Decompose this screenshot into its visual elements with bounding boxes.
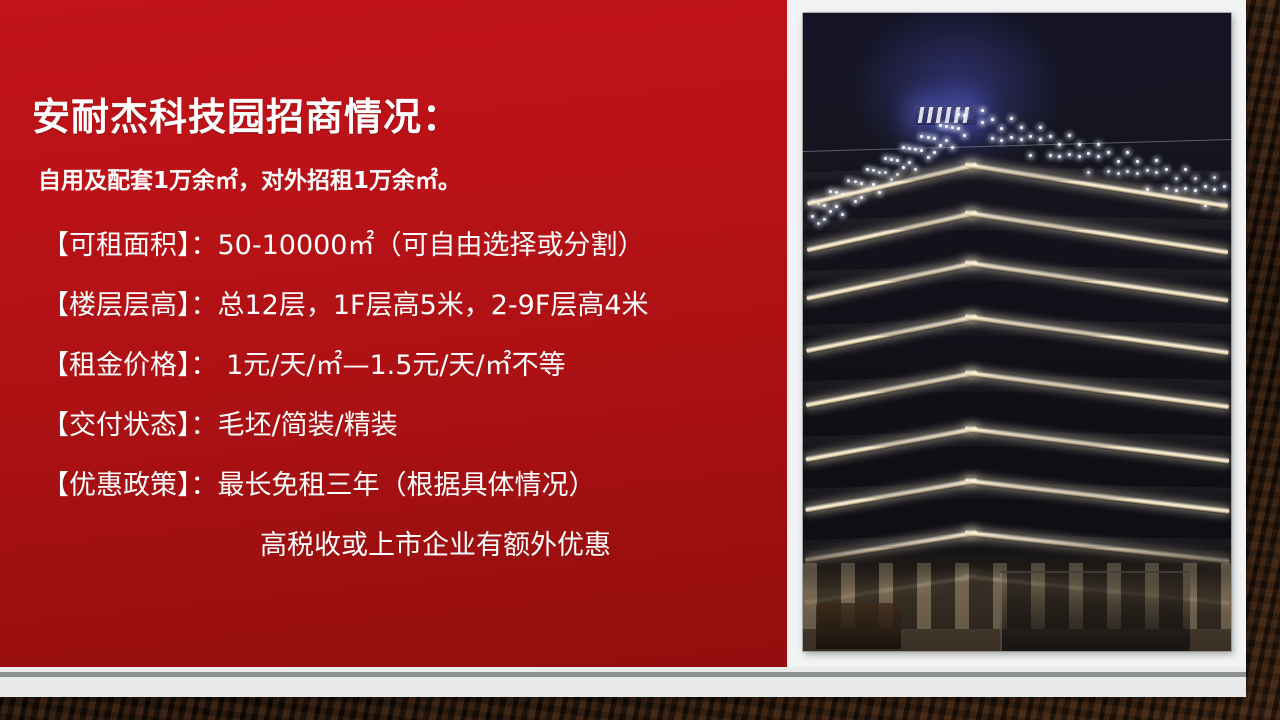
slide-card: 安耐杰科技园招商情况： 自用及配套1万余㎡，对外招租1万余㎡。 【可租面积】：5… xyxy=(0,0,1246,697)
roof-point-light xyxy=(811,215,814,218)
neon-sign-glyphs xyxy=(918,107,975,123)
roof-point-light xyxy=(1000,127,1003,130)
page-title: 安耐杰科技园招商情况： xyxy=(32,86,461,141)
roof-point-light xyxy=(1126,151,1129,154)
photo-mount xyxy=(789,0,1246,667)
roof-point-light xyxy=(896,159,899,162)
roof-point-light xyxy=(933,151,936,154)
roof-point-light xyxy=(1049,135,1052,138)
roof-point-light xyxy=(1087,152,1090,155)
facade-slab xyxy=(803,167,1231,181)
roof-point-light xyxy=(1117,160,1120,163)
rooftop-neon-sign-icon xyxy=(915,105,977,125)
roof-point-light xyxy=(1029,154,1032,157)
roof-point-light xyxy=(841,213,844,216)
list-item: 【楼层层高】：总12层，1F层高5米，2-9F层高4米 xyxy=(42,276,782,336)
roof-point-light xyxy=(1184,168,1187,171)
roof-point-light xyxy=(1097,155,1100,158)
facade-slab xyxy=(803,375,1231,392)
roof-point-light xyxy=(1010,136,1013,139)
roof-point-light xyxy=(1000,139,1003,142)
roof-point-light xyxy=(1107,151,1110,154)
facade-slab xyxy=(803,215,1231,230)
page-subtitle: 自用及配套1万余㎡，对外招租1万余㎡。 xyxy=(38,161,461,195)
roof-point-light xyxy=(1213,188,1216,191)
roof-point-light xyxy=(860,196,863,199)
roof-point-light xyxy=(927,156,930,159)
roof-point-light xyxy=(908,161,911,164)
facade-slab xyxy=(803,265,1231,281)
roof-point-light xyxy=(981,121,984,124)
building-night-photo xyxy=(803,13,1231,651)
roof-point-light xyxy=(1165,187,1168,190)
roof-point-light xyxy=(945,139,948,142)
facade-slab xyxy=(803,431,1231,447)
roof-point-light xyxy=(823,204,826,207)
list-item: 【交付状态】：毛坯/简装/精装 xyxy=(42,396,782,456)
roof-point-light xyxy=(884,157,887,160)
roof-point-light xyxy=(1049,154,1052,157)
card-bottom-rule xyxy=(0,672,1246,677)
list-item: 【优惠政策】：最长免租三年（根据具体情况） xyxy=(42,456,782,516)
roof-point-light xyxy=(1068,134,1071,137)
roof-point-light xyxy=(1155,159,1158,162)
roof-point-light xyxy=(1194,189,1197,192)
roof-point-light xyxy=(933,137,936,140)
building-entrance xyxy=(1000,571,1190,651)
facade-slab xyxy=(803,319,1231,336)
roof-point-light xyxy=(902,166,905,169)
roof-point-light xyxy=(1020,126,1023,129)
roof-point-light xyxy=(1223,185,1226,188)
roof-point-light xyxy=(1204,185,1207,188)
red-content-panel: 安耐杰科技园招商情况： 自用及配套1万余㎡，对外招租1万余㎡。 【可租面积】：5… xyxy=(0,0,787,667)
roof-point-light xyxy=(945,125,948,128)
planter-box xyxy=(816,603,902,649)
roof-point-light xyxy=(957,127,960,130)
list-item: 高税收或上市企业有额外优惠 xyxy=(42,516,782,576)
roof-point-light xyxy=(1068,153,1071,156)
roof-point-light xyxy=(878,191,881,194)
roof-point-light xyxy=(1039,126,1042,129)
roof-point-light xyxy=(1058,155,1061,158)
roof-point-light xyxy=(860,182,863,185)
overhead-cable xyxy=(803,139,1231,153)
roof-point-light xyxy=(920,135,923,138)
roof-point-light xyxy=(920,149,923,152)
roof-point-light xyxy=(1029,135,1032,138)
roof-point-light xyxy=(981,109,984,112)
facade-slab xyxy=(803,483,1231,499)
slide-root: 安耐杰科技园招商情况： 自用及配套1万余㎡，对外招租1万余㎡。 【可租面积】：5… xyxy=(0,0,1280,720)
roof-point-light xyxy=(829,190,832,193)
roof-point-light xyxy=(914,148,917,151)
building-photo-frame xyxy=(803,13,1231,651)
roof-point-light xyxy=(835,205,838,208)
detail-list: 【可租面积】：50-10000㎡（可自由选择或分割） 【楼层层高】：总12层，1… xyxy=(42,216,782,576)
roof-point-light xyxy=(829,210,832,213)
list-item: 【可租面积】：50-10000㎡（可自由选择或分割） xyxy=(42,216,782,276)
roof-point-light xyxy=(1078,155,1081,158)
roof-point-light xyxy=(1039,138,1042,141)
roof-point-light xyxy=(991,118,994,121)
roof-point-light xyxy=(1136,160,1139,163)
roof-point-light xyxy=(1010,117,1013,120)
roof-point-light xyxy=(927,136,930,139)
roof-point-light xyxy=(991,137,994,140)
roof-point-light xyxy=(890,158,893,161)
roof-point-light xyxy=(963,134,966,137)
roof-point-light xyxy=(854,200,857,203)
list-item: 【租金价格】： 1元/天/㎡—1.5元/天/㎡不等 xyxy=(42,336,782,396)
roof-point-light xyxy=(1020,138,1023,141)
roof-point-light xyxy=(951,126,954,129)
roof-point-light xyxy=(1175,189,1178,192)
roof-point-light xyxy=(1184,187,1187,190)
